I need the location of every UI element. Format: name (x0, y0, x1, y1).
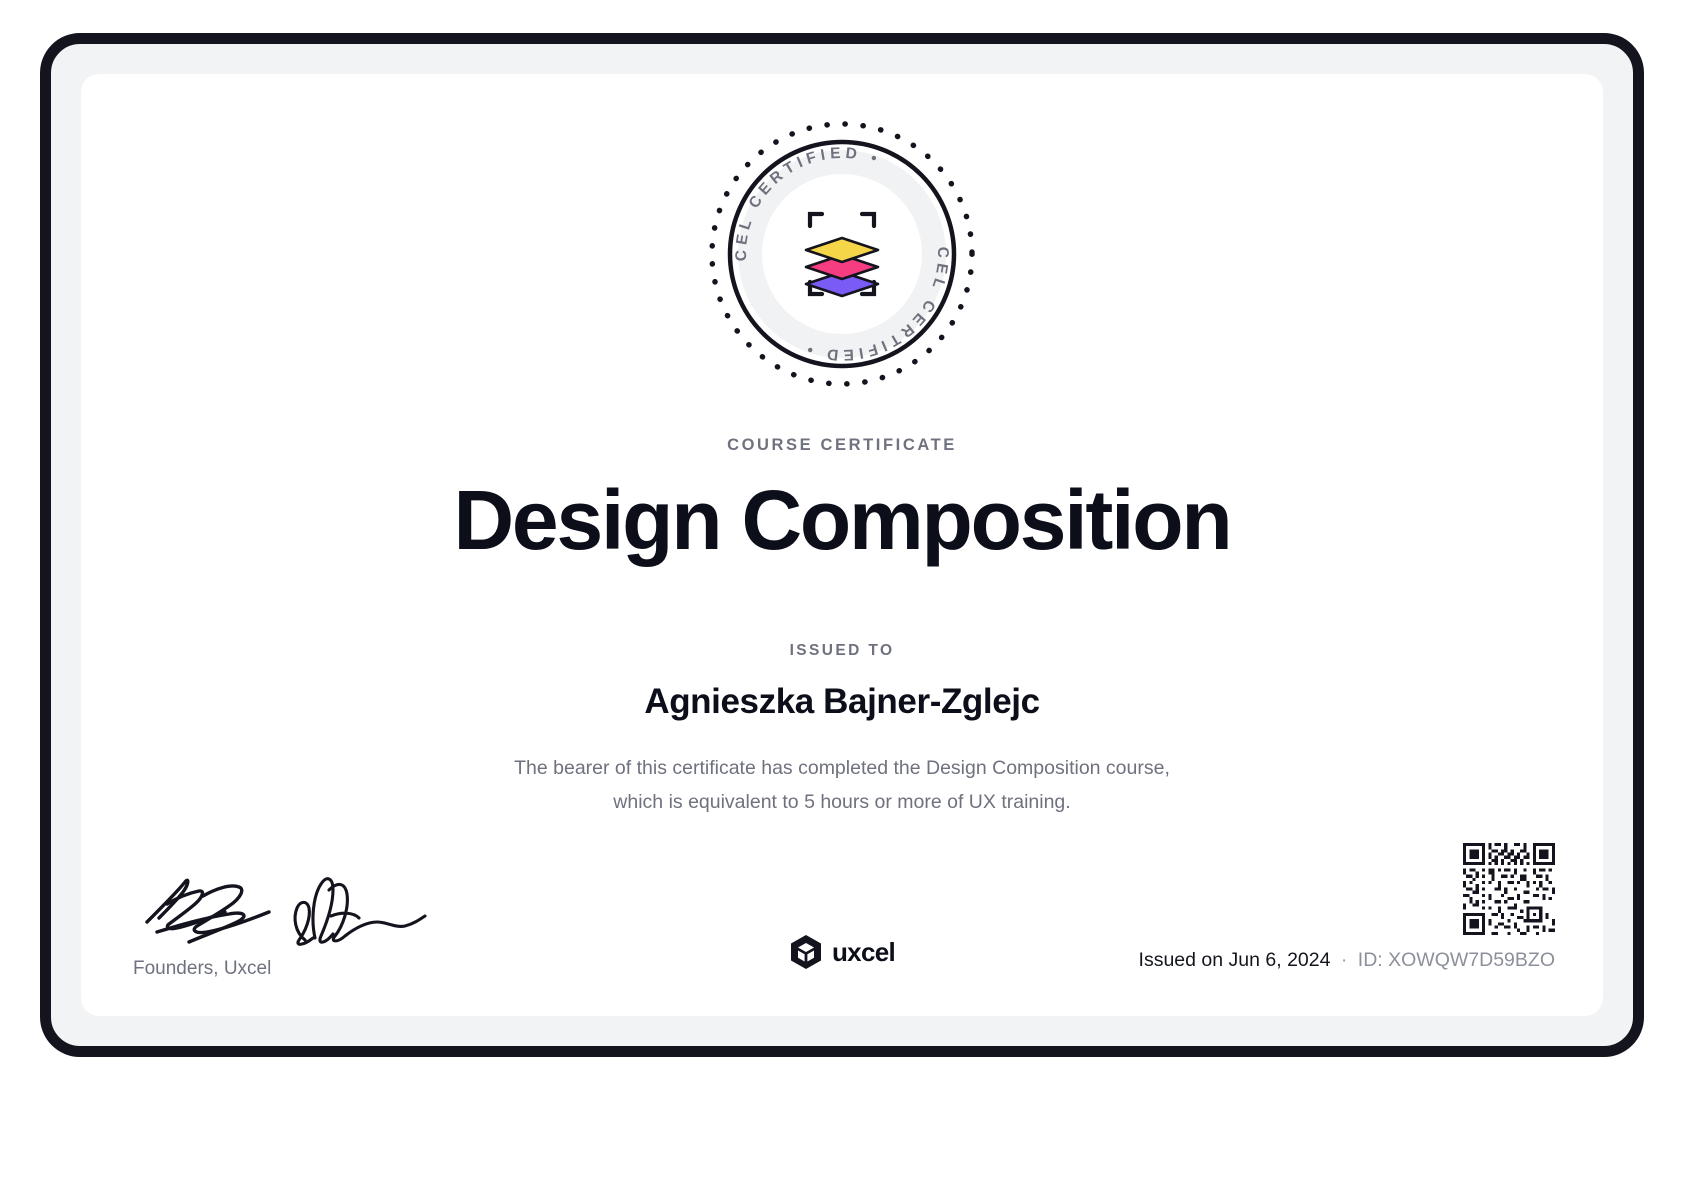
qr-code (1463, 843, 1555, 935)
certificate-frame: UXCEL CERTIFIED • UXCEL CERTIFIED • (40, 33, 1644, 1057)
description-line-2: which is equivalent to 5 hours or more o… (81, 786, 1603, 820)
certificate-kicker: COURSE CERTIFICATE (81, 436, 1603, 455)
issued-to-label: ISSUED TO (81, 642, 1603, 660)
course-title: Design Composition (81, 477, 1603, 564)
certificate-description: The bearer of this certificate has compl… (81, 752, 1603, 819)
layers-icon (806, 238, 878, 296)
handwritten-signature (133, 860, 433, 948)
certificate-id: ID: XOWQW7D59BZO (1358, 949, 1555, 971)
uxcel-hexagon-logo-icon (789, 934, 823, 970)
issued-on-date: Issued on Jun 6, 2024 (1139, 949, 1331, 971)
issue-meta-line: Issued on Jun 6, 2024 · ID: XOWQW7D59BZO (1139, 949, 1555, 972)
brand-logo: uxcel (789, 934, 895, 970)
certification-seal: UXCEL CERTIFIED • UXCEL CERTIFIED • (706, 118, 978, 390)
signature-role-label: Founders, Uxcel (133, 958, 553, 980)
brand-wordmark: uxcel (832, 937, 895, 968)
meta-separator: · (1336, 949, 1353, 971)
signature-block: Founders, Uxcel (133, 860, 553, 980)
certificate-card: UXCEL CERTIFIED • UXCEL CERTIFIED • (81, 74, 1603, 1016)
recipient-name: Agnieszka Bajner-Zglejc (81, 682, 1603, 722)
signature-one (147, 880, 269, 942)
description-line-1: The bearer of this certificate has compl… (81, 752, 1603, 786)
certificate-meta: Issued on Jun 6, 2024 · ID: XOWQW7D59BZO (1139, 843, 1555, 972)
signature-two (295, 879, 425, 945)
